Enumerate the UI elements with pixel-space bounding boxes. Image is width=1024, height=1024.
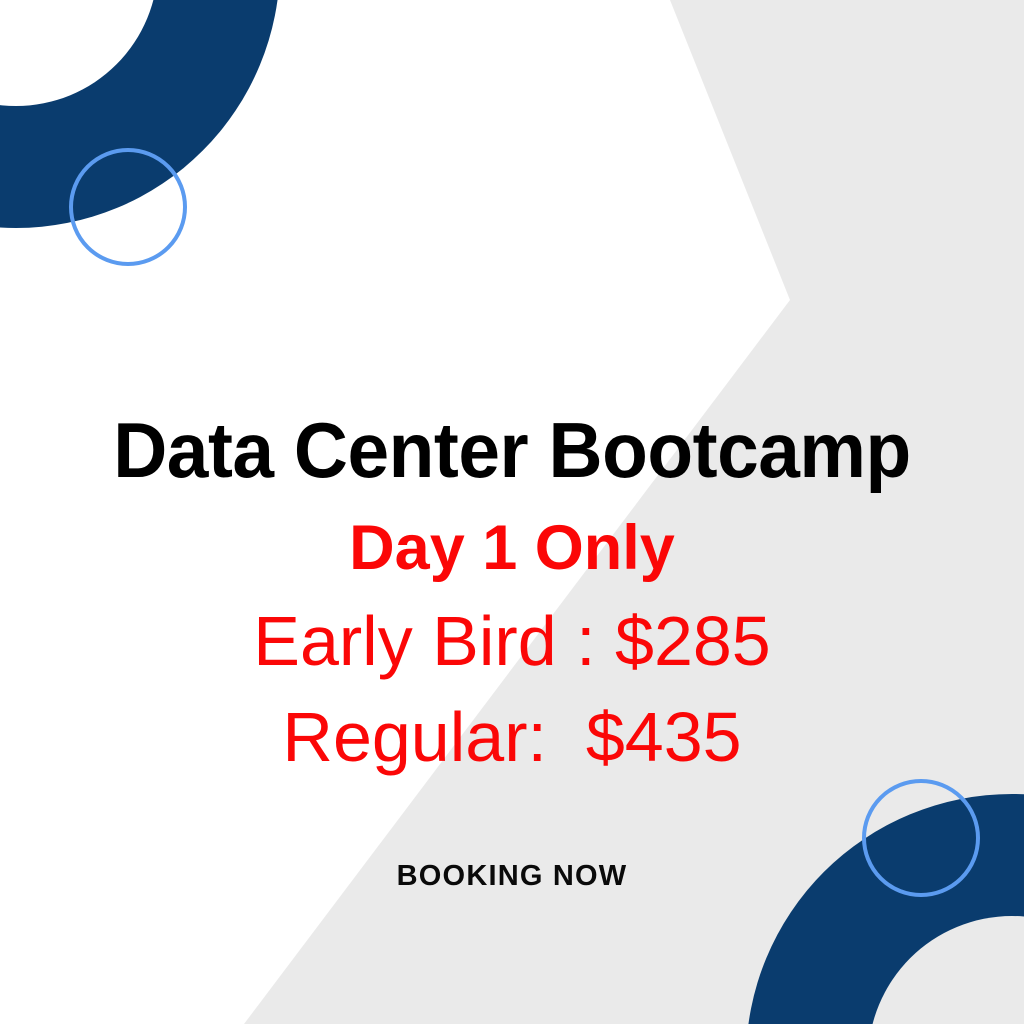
price-early-bird: Early Bird : $285 [0, 600, 1024, 682]
poster-text-content: Data Center Bootcamp Day 1 Only Early Bi… [0, 0, 1024, 1024]
booking-now-label[interactable]: BOOKING NOW [0, 858, 1024, 894]
page-title: Data Center Bootcamp [20, 404, 1003, 496]
promo-poster: Data Center Bootcamp Day 1 Only Early Bi… [0, 0, 1024, 1024]
price-regular: Regular: $435 [0, 696, 1024, 778]
subtitle-day-label: Day 1 Only [0, 508, 1024, 588]
